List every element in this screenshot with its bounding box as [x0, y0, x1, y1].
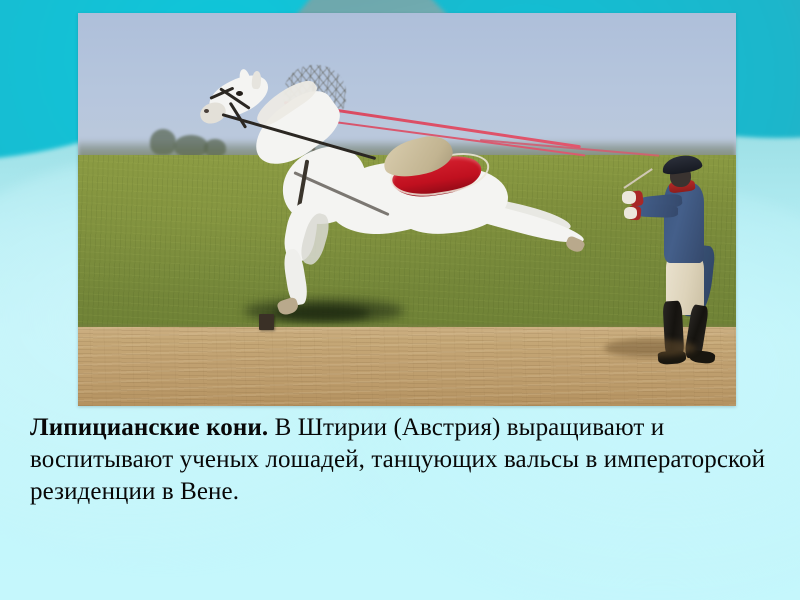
track-marker-block	[259, 314, 274, 330]
horse-eye	[236, 91, 243, 96]
trainer-glove-upper	[622, 191, 636, 204]
trainer-glove-lower	[624, 207, 637, 219]
trainer-shadow	[604, 339, 696, 357]
caption-lead: Липицианские кони.	[30, 414, 268, 441]
horse-ear-far	[251, 71, 261, 90]
lipizzaner-horse-photo	[78, 13, 736, 406]
presentation-slide: Липицианские кони. В Штирии (Австрия) вы…	[0, 0, 800, 600]
slide-caption: Липицианские кони. В Штирии (Австрия) вы…	[30, 412, 770, 508]
trainer-bicorne-hat	[661, 153, 703, 176]
horse-trainer	[638, 153, 736, 353]
horse-nostril	[204, 109, 209, 113]
lipizzaner-horse	[178, 63, 648, 313]
